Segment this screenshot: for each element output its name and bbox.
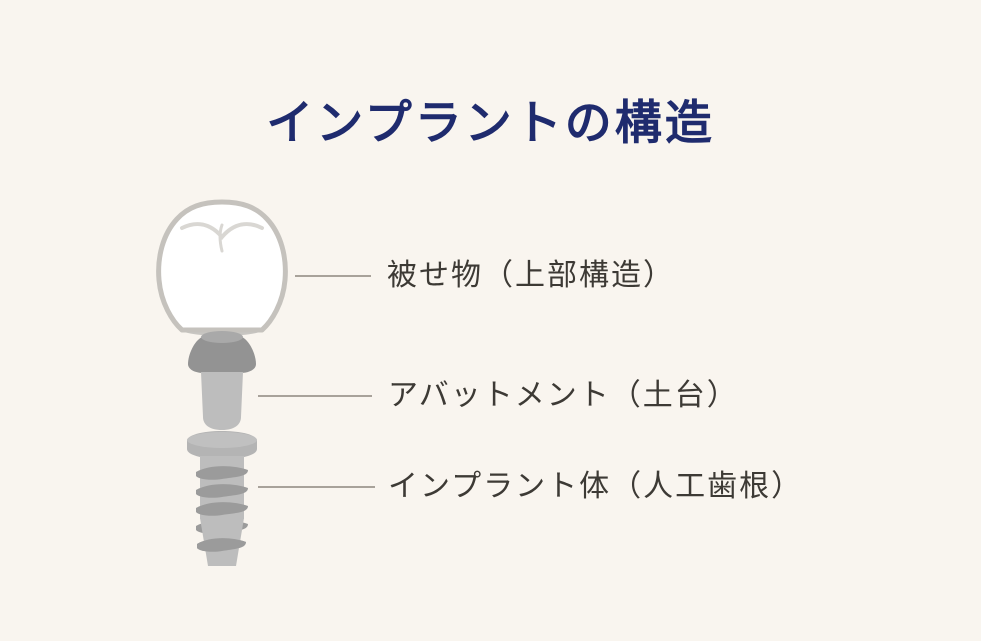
leader-line-crown xyxy=(295,275,371,277)
label-crown: 被せ物（上部構造） xyxy=(387,261,675,291)
implant-structure-infographic: インプラントの構造 xyxy=(0,0,981,641)
page-title: インプラントの構造 xyxy=(0,95,981,150)
leader-line-abutment xyxy=(258,395,372,397)
label-fixture: インプラント体（人工歯根） xyxy=(388,472,803,502)
leader-line-fixture xyxy=(258,486,375,488)
label-abutment: アバットメント（土台） xyxy=(388,381,739,411)
implant-fixture-shape xyxy=(187,431,257,566)
crown-shape xyxy=(159,202,286,336)
abutment-shape xyxy=(188,331,256,430)
implant-diagram xyxy=(130,185,330,585)
